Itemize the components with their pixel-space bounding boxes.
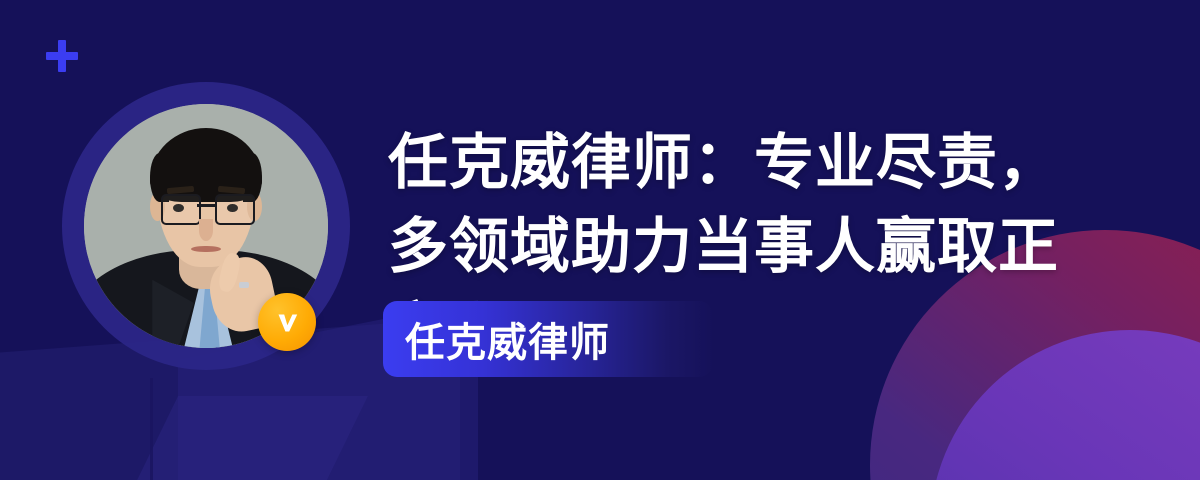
lawyer-name-label: 任克威律师 — [383, 310, 610, 368]
lawyer-profile-banner: 任克威律师：专业尽责， 多领域助力当事人赢取正义 任克威律师 — [0, 0, 1200, 480]
plus-icon — [42, 36, 82, 76]
plus-icon-bar-vertical — [58, 40, 66, 72]
verified-badge-icon — [258, 293, 316, 351]
lawyer-name-pill[interactable]: 任克威律师 — [383, 301, 713, 377]
portrait-mouth — [191, 246, 220, 252]
portrait-ring — [239, 282, 249, 288]
decor-divider-line — [150, 378, 153, 480]
portrait-glasses-bridge — [197, 204, 214, 207]
portrait-nose — [199, 219, 214, 241]
portrait-glasses-lens-right — [215, 194, 256, 225]
portrait-glasses-lens-left — [161, 194, 202, 225]
